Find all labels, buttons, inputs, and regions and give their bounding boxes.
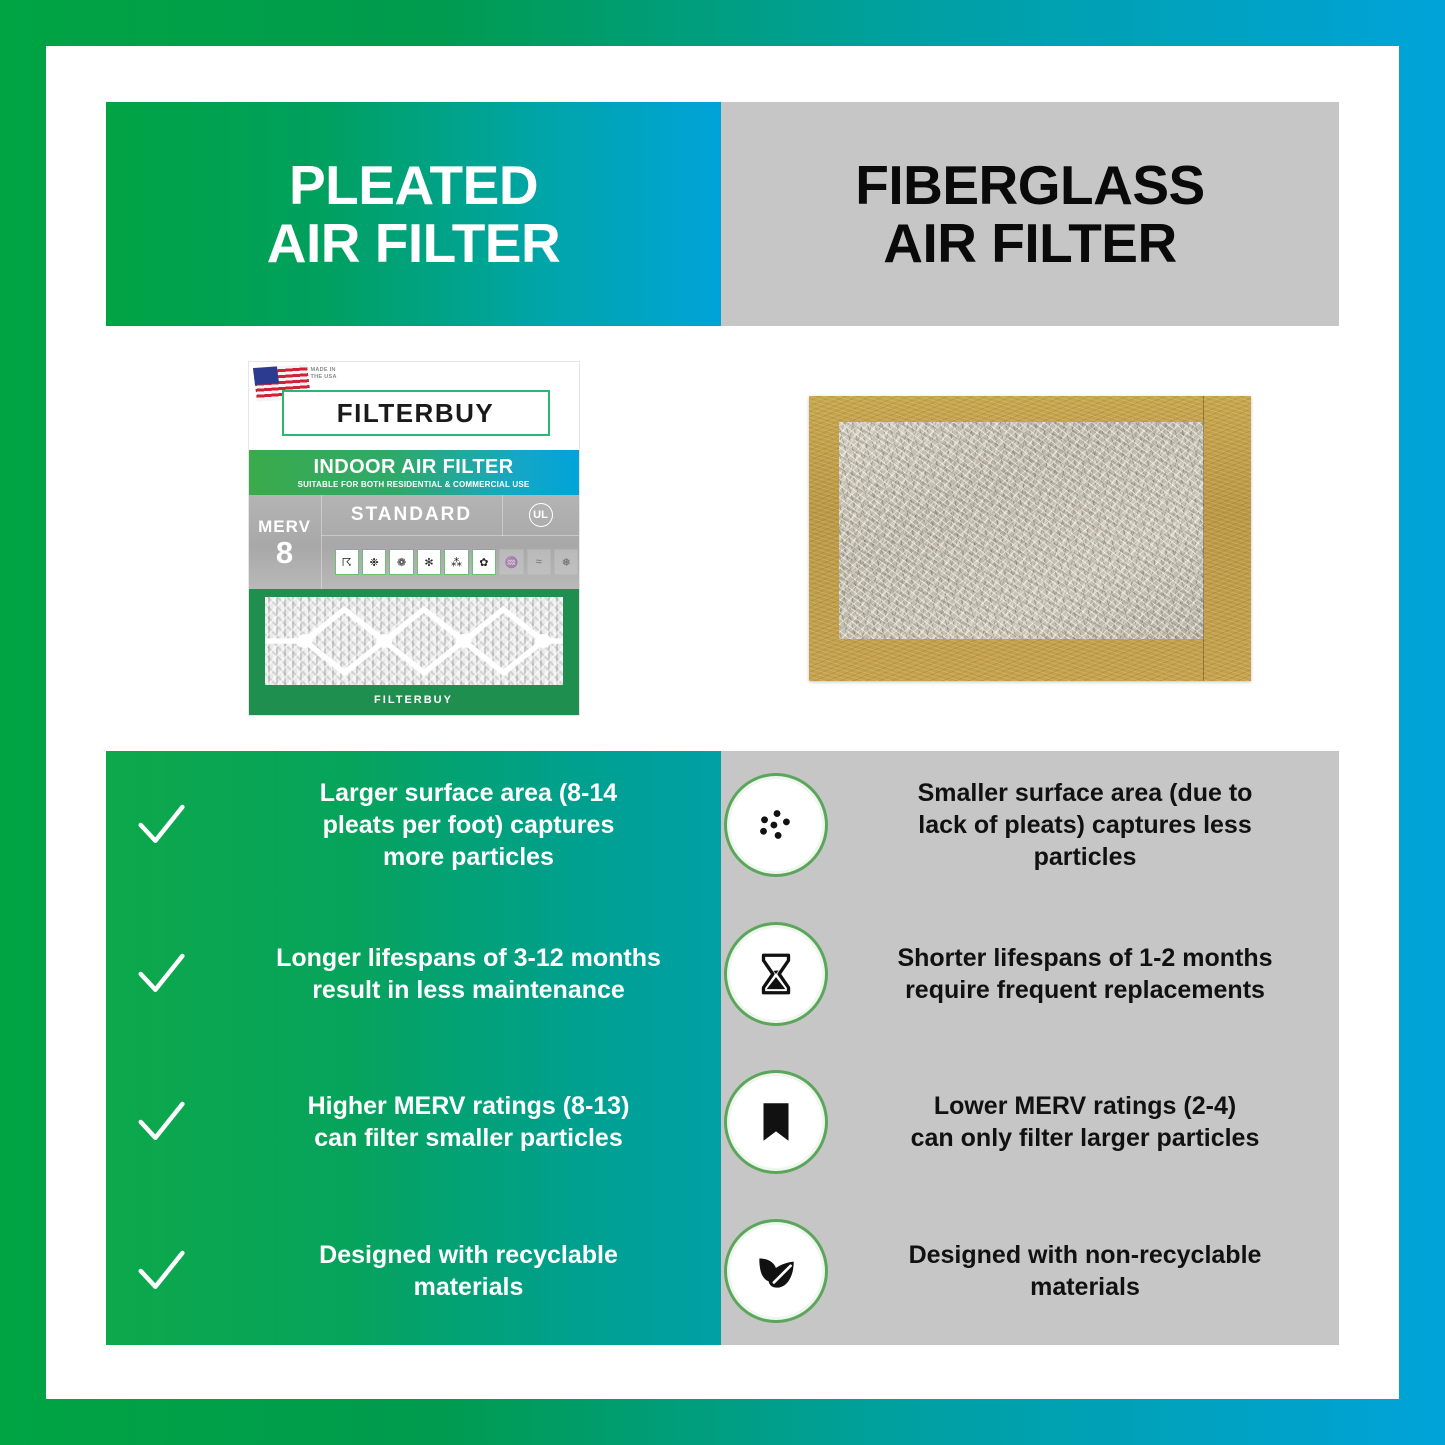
comparison-row: Designed with recyclable materials Desig… [106, 1197, 1339, 1346]
infographic-content: PLEATED AIR FILTER FIBERGLASS AIR FILTER… [106, 102, 1339, 1345]
check-icon [134, 798, 188, 852]
grade-label: STANDARD [351, 504, 472, 526]
indoor-air-filter-band: INDOOR AIR FILTER SUITABLE FOR BOTH RESI… [249, 450, 579, 495]
mold-spores-icon: ✻ [417, 549, 441, 575]
fiberglass-drawback-text: Smaller surface area (due to lack of ple… [831, 777, 1339, 873]
pleated-benefit-text: Designed with recyclable materials [216, 1239, 721, 1303]
comparison-row: Longer lifespans of 3-12 months result i… [106, 900, 1339, 1049]
row-icon-badge [730, 1225, 822, 1317]
checkmark-cell [106, 1244, 216, 1298]
checkmark-cell [106, 1095, 216, 1149]
leaf-icon [751, 1246, 801, 1296]
box-top-white-area: MADE IN THE USA FILTERBUY [249, 362, 579, 450]
product-image-row: MADE IN THE USA FILTERBUY INDOOR AIR FIL… [106, 326, 1339, 751]
cardboard-frame-seam [1203, 396, 1205, 681]
particles-icon [751, 800, 801, 850]
ul-icon: UL [529, 503, 553, 527]
fiberglass-product-cell [721, 326, 1339, 751]
merv-rating-block: MERV 8 [249, 495, 322, 589]
pleated-header-title: PLEATED AIR FILTER [267, 156, 560, 273]
fiberglass-media-texture [839, 422, 1204, 639]
filterbuy-logo: FILTERBUY [282, 390, 550, 436]
merv-label: MERV [258, 517, 311, 537]
box-footer-brand-bar: FILTERBUY [249, 685, 579, 715]
fiberglass-drawback-text: Lower MERV ratings (2-4) can only filter… [831, 1090, 1339, 1154]
white-canvas: PLEATED AIR FILTER FIBERGLASS AIR FILTER… [46, 46, 1399, 1399]
comparison-row: Larger surface area (8-14 pleats per foo… [106, 751, 1339, 900]
filterbuy-filter-box-image: MADE IN THE USA FILTERBUY INDOOR AIR FIL… [249, 362, 579, 715]
check-icon [134, 1095, 188, 1149]
box-footer-brand-text: FILTERBUY [374, 694, 453, 706]
capture-icon-strip: ☈ ❉ ❁ ✻ ⁂ ✿ ♒ ≈ ❅ [321, 535, 579, 589]
air-mold-icon: ❉ [362, 549, 386, 575]
support-wire-overlay [265, 597, 563, 685]
dust-mites-icon: ⁂ [444, 549, 468, 575]
header-band: PLEATED AIR FILTER FIBERGLASS AIR FILTER [106, 102, 1339, 326]
indoor-band-title: INDOOR AIR FILTER [313, 456, 513, 479]
gradient-border-frame: PLEATED AIR FILTER FIBERGLASS AIR FILTER… [0, 0, 1445, 1445]
row-icon-badge [730, 1076, 822, 1168]
indoor-band-subtitle: SUITABLE FOR BOTH RESIDENTIAL & COMMERCI… [298, 480, 530, 489]
check-icon [134, 1244, 188, 1298]
fiberglass-filter-image [809, 396, 1251, 681]
pleated-header-panel: PLEATED AIR FILTER [106, 102, 721, 326]
household-dust-icon: ☈ [335, 549, 359, 575]
fiberglass-header-panel: FIBERGLASS AIR FILTER [721, 102, 1339, 326]
made-in-usa-label: MADE IN THE USA [311, 367, 337, 381]
bacteria-icon: ≈ [527, 549, 551, 575]
check-icon [134, 947, 188, 1001]
row-icon-badge [730, 779, 822, 871]
pleated-media-area: FILTERBUY [249, 589, 579, 715]
filterbuy-logo-text: FILTERBUY [337, 398, 494, 429]
smoke-icon: ♒ [499, 549, 523, 575]
comparison-rows: Larger surface area (8-14 pleats per foo… [106, 751, 1339, 1345]
row-icon-cell [721, 1225, 831, 1317]
checkmark-cell [106, 798, 216, 852]
row-icon-badge [730, 928, 822, 1020]
pollen-icon: ❁ [389, 549, 413, 575]
pet-dander-icon: ✿ [472, 549, 496, 575]
fiberglass-drawback-text: Shorter lifespans of 1-2 months require … [831, 942, 1339, 1006]
grade-block: STANDARD [321, 495, 503, 536]
pleated-product-cell: MADE IN THE USA FILTERBUY INDOOR AIR FIL… [106, 326, 721, 751]
hourglass-icon [751, 949, 801, 999]
ul-certification-badge: UL [502, 495, 579, 536]
fiberglass-drawback-text: Designed with non-recyclable materials [831, 1239, 1339, 1303]
checkmark-cell [106, 947, 216, 1001]
spec-band: MERV 8 STANDARD UL ☈ ❉ [249, 495, 579, 589]
row-icon-cell [721, 1076, 831, 1168]
fiberglass-header-title: FIBERGLASS AIR FILTER [855, 156, 1204, 273]
row-icon-cell [721, 928, 831, 1020]
bookmark-icon [751, 1097, 801, 1147]
comparison-row: Higher MERV ratings (8-13) can filter sm… [106, 1048, 1339, 1197]
row-icon-cell [721, 779, 831, 871]
pleated-benefit-text: Longer lifespans of 3-12 months result i… [216, 942, 721, 1006]
merv-value: 8 [276, 537, 293, 568]
wire-diamond-pattern [265, 597, 563, 685]
virus-icon: ❅ [554, 549, 578, 575]
pleated-benefit-text: Larger surface area (8-14 pleats per foo… [216, 777, 721, 873]
pleated-benefit-text: Higher MERV ratings (8-13) can filter sm… [216, 1090, 721, 1154]
